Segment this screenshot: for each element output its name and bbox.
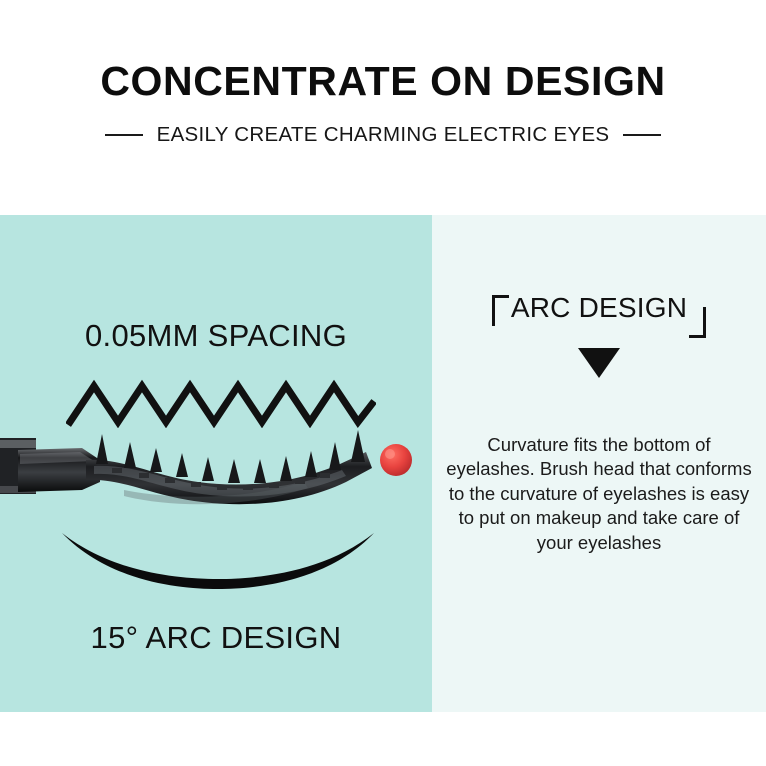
- spacing-label: 0.05MM SPACING: [0, 318, 432, 354]
- triangle-down-icon: [432, 348, 766, 378]
- eyelash-comb-brush-image: [0, 420, 432, 520]
- arc-design-heading-text: ARC DESIGN: [511, 293, 687, 322]
- footer-band: [0, 712, 766, 766]
- arc-design-heading: ARC DESIGN: [432, 293, 766, 338]
- page-subtitle: EASILY CREATE CHARMING ELECTRIC EYES: [157, 123, 610, 147]
- header-section: CONCENTRATE ON DESIGN EASILY CREATE CHAR…: [0, 0, 766, 215]
- subtitle-row: EASILY CREATE CHARMING ELECTRIC EYES: [0, 123, 766, 147]
- brush-red-tip-icon: [380, 444, 412, 476]
- panels-container: 0.05MM SPACING: [0, 215, 766, 712]
- subtitle-dash-right-icon: [623, 134, 661, 136]
- arc-curve-icon: [58, 527, 378, 589]
- page-title: CONCENTRATE ON DESIGN: [0, 58, 766, 105]
- left-feature-panel: 0.05MM SPACING: [0, 215, 432, 712]
- right-feature-panel: ARC DESIGN Curvature fits the bottom of …: [432, 215, 766, 712]
- arc-design-label: 15° ARC DESIGN: [0, 620, 432, 656]
- bracket-close-icon: [689, 307, 706, 338]
- subtitle-dash-left-icon: [105, 134, 143, 136]
- feature-description: Curvature fits the bottom of eyelashes. …: [444, 433, 754, 555]
- bracket-open-icon: [492, 295, 509, 326]
